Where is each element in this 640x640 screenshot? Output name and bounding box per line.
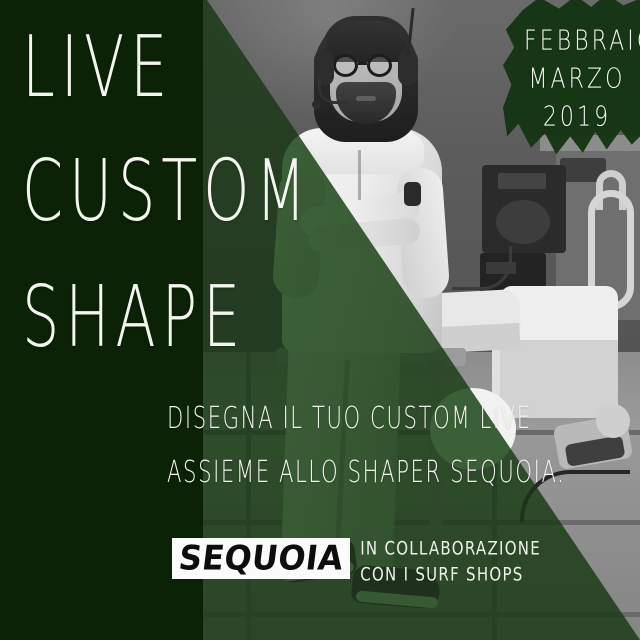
subtitle-line-2: ASSIEME ALLO SHAPER SEQUOIA. [167,458,565,488]
glasses-bridge [358,62,367,65]
glasses-lens-left [333,54,358,77]
speaker-large-cone [496,200,550,244]
headline-line-live: LIVE [22,26,173,110]
person-mouth [356,96,376,101]
logo-block: SEQUOIA IN COLLABORAZIONE CON I SURF SHO… [172,538,541,592]
date-badge: FEBBRAIO MARZO 2019 [524,28,630,142]
sequoia-logo-box: SEQUOIA [172,538,350,579]
collaboration-block: IN COLLABORAZIONE CON I SURF SHOPS [360,540,541,592]
subtitle-line-1: DISEGNA IL TUO CUSTOM LIVE [167,404,532,434]
collaboration-line-1: IN COLLABORAZIONE [360,540,541,558]
headline-line-shape: SHAPE [22,276,246,360]
date-year: 2019 [524,104,630,132]
date-month-primary: FEBBRAIO [524,28,630,56]
microphone-capsule [312,100,321,109]
poster-canvas: LIVE CUSTOM SHAPE FEBBRAIO MARZO 2019 DI… [0,0,640,640]
sequoia-logo-text: SEQUOIA [177,541,345,575]
glasses-lens-right [367,54,392,77]
date-month-secondary: MARZO [524,66,630,94]
collaboration-line-2: CON I SURF SHOPS [360,566,541,584]
speaker-large-tweeter [498,173,546,189]
headline-line-custom: CUSTOM [22,150,312,234]
coverall-badge [404,182,421,206]
